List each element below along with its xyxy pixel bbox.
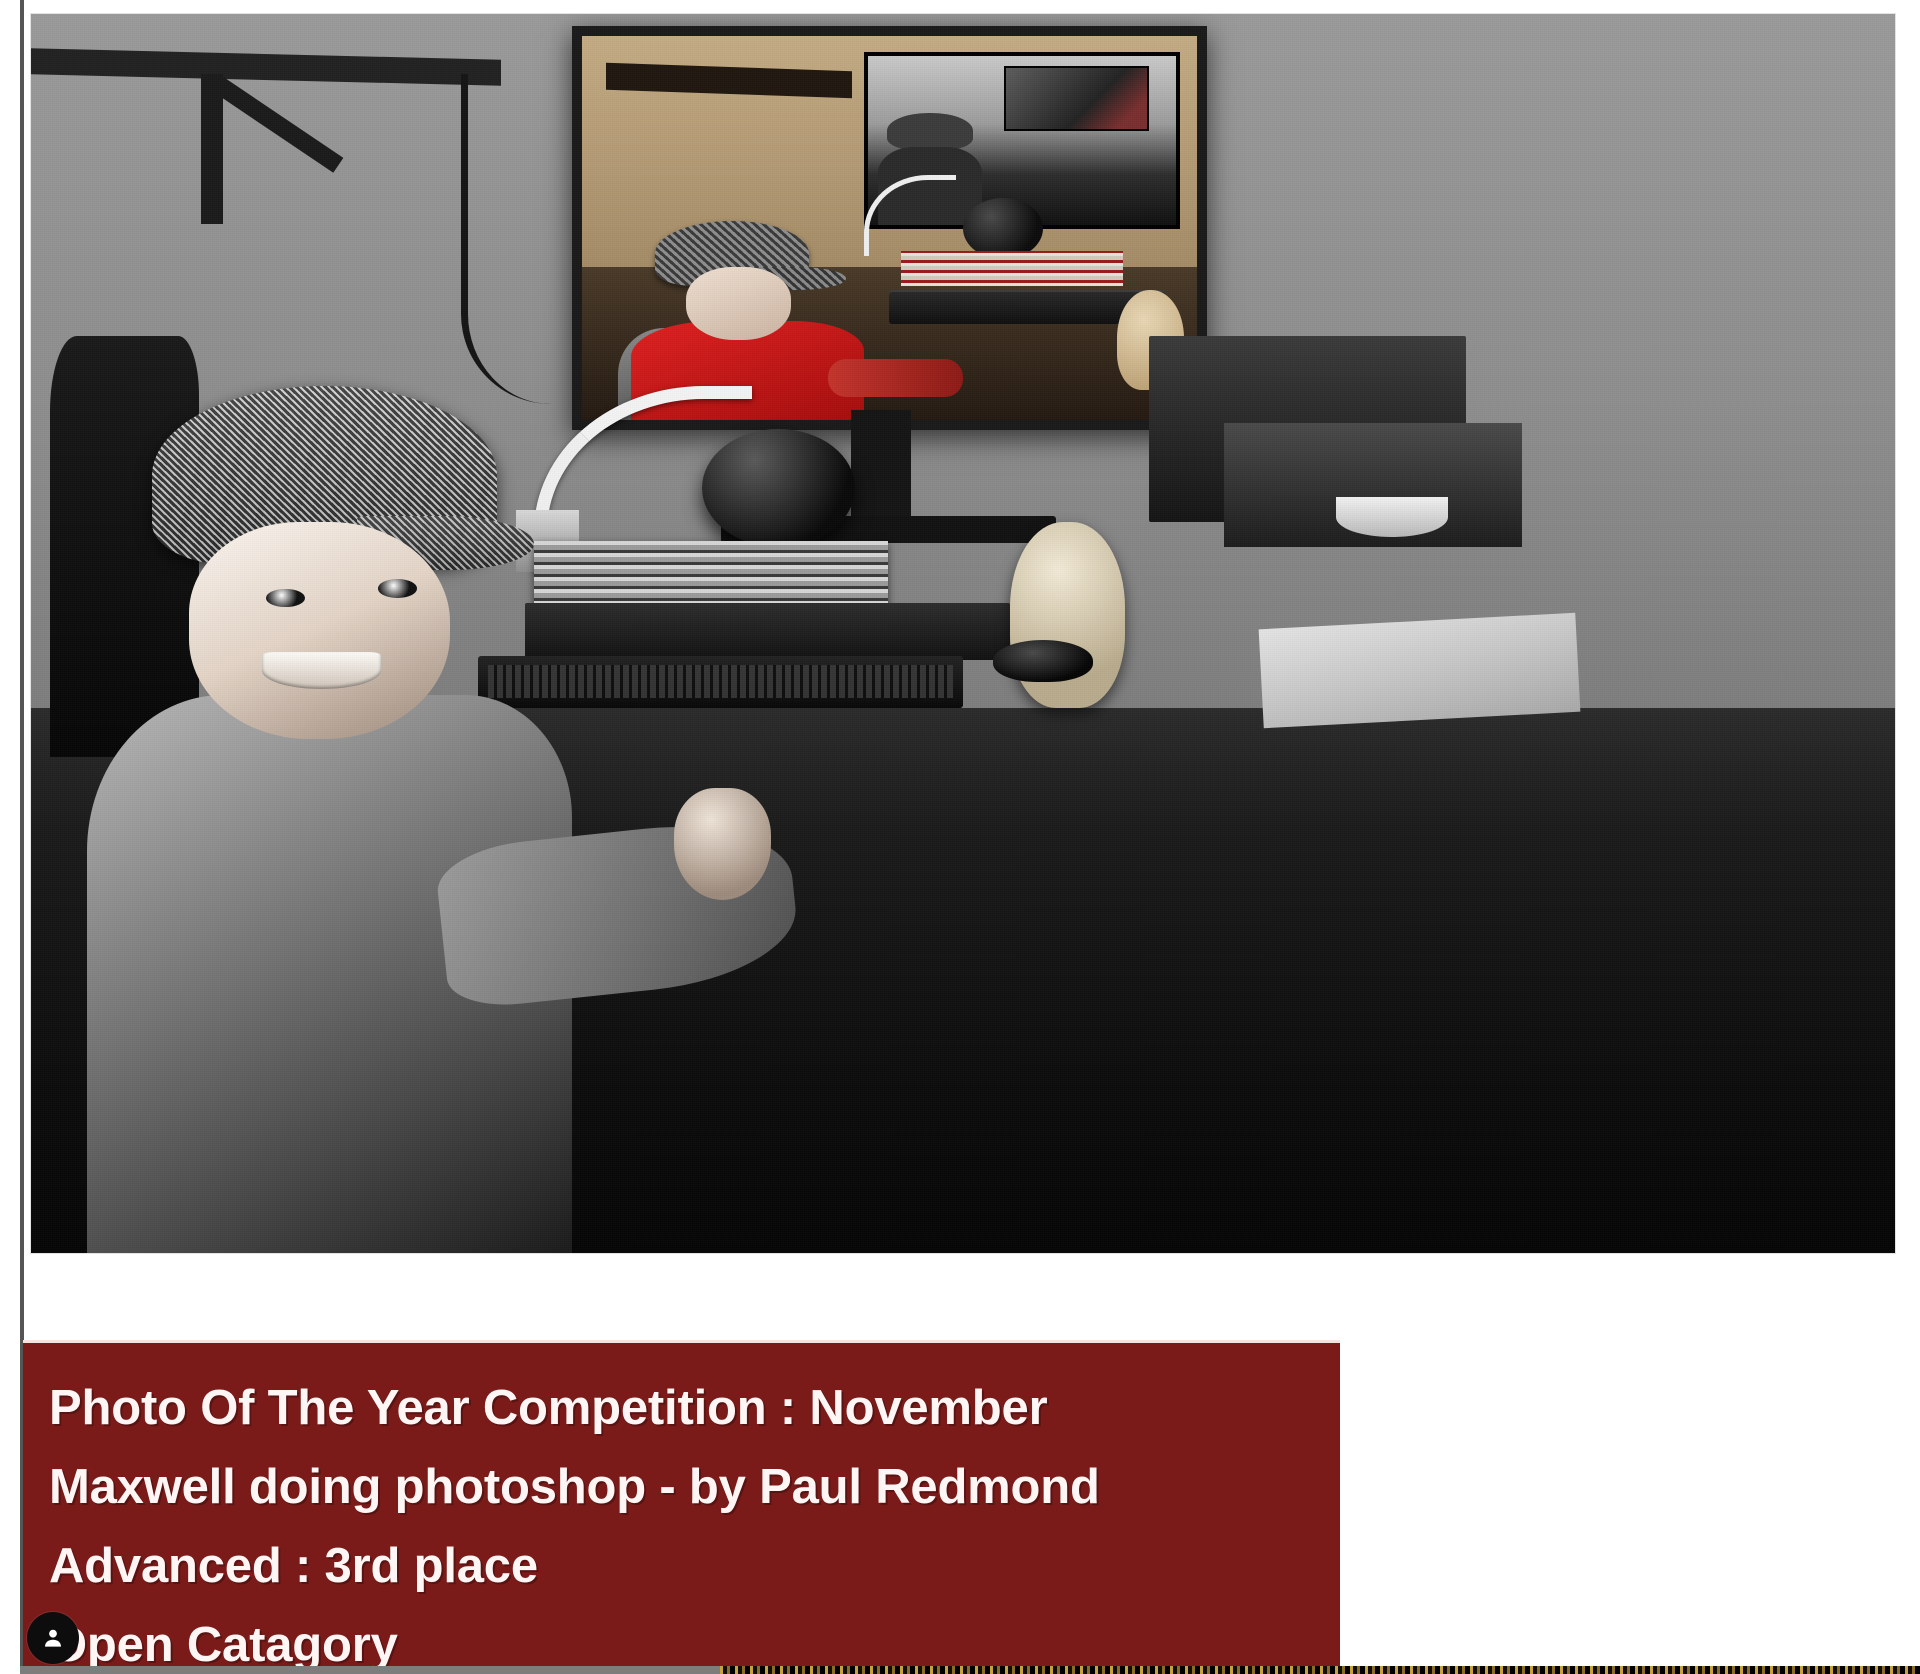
person-avatar-icon[interactable] [27, 1612, 79, 1664]
caption-line-title-author: Maxwell doing photoshop - by Paul Redmon… [49, 1448, 1340, 1527]
feed-gutter [1340, 1340, 1920, 1666]
caption-line-competition: Photo Of The Year Competition : November [49, 1369, 1340, 1448]
caption-line-grade-place: Advanced : 3rd place [49, 1527, 1340, 1606]
film-grain-overlay [31, 14, 1895, 1253]
photo-canvas [31, 14, 1895, 1253]
post-photo[interactable] [31, 14, 1895, 1253]
next-post-preview[interactable] [720, 1666, 1920, 1674]
caption-line-category: Open Catagory [49, 1606, 1340, 1674]
page-root: Photo Of The Year Competition : November… [0, 0, 1920, 1674]
left-margin [0, 0, 20, 1674]
caption-banner: Photo Of The Year Competition : November… [23, 1340, 1340, 1674]
bottom-scroll-rail[interactable] [20, 1666, 720, 1674]
